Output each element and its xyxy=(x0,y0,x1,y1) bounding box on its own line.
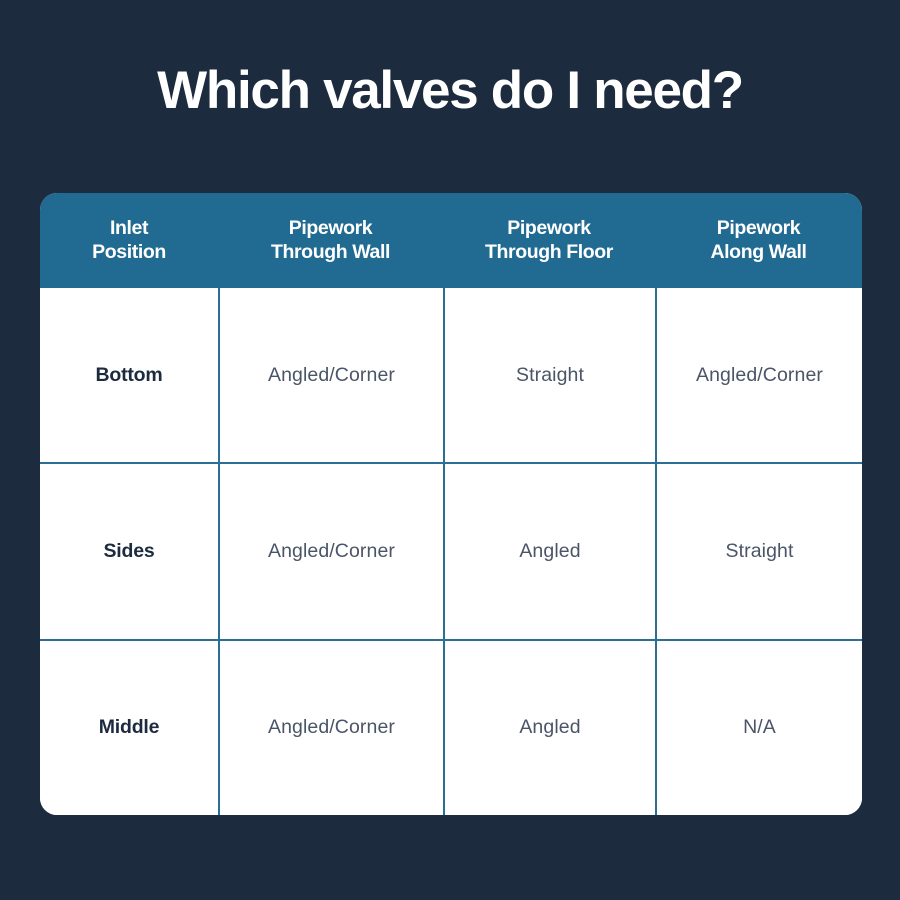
column-header-pipework-along-wall-line2: Along Wall xyxy=(710,241,806,263)
valves-table: Inlet Position Pipework Through Wall Pip… xyxy=(40,193,862,815)
table-row: Bottom Angled/Corner Straight Angled/Cor… xyxy=(40,288,862,462)
cell-sides-along-wall: Straight xyxy=(655,464,862,638)
column-header-inlet-position-line2: Position xyxy=(92,241,166,263)
table-header-row: Inlet Position Pipework Through Wall Pip… xyxy=(40,193,862,288)
column-header-pipework-through-floor-line1: Pipework xyxy=(507,217,591,239)
page-title: Which valves do I need? xyxy=(0,62,900,120)
cell-sides-through-wall: Angled/Corner xyxy=(218,464,443,638)
table-row: Sides Angled/Corner Angled Straight xyxy=(40,462,862,638)
column-header-inlet-position: Inlet Position xyxy=(40,193,218,288)
table-row: Middle Angled/Corner Angled N/A xyxy=(40,639,862,815)
column-header-pipework-along-wall-line1: Pipework xyxy=(717,217,801,239)
column-header-inlet-position-line1: Inlet xyxy=(110,217,148,239)
table-body: Bottom Angled/Corner Straight Angled/Cor… xyxy=(40,288,862,815)
row-label-sides: Sides xyxy=(40,464,218,638)
column-header-pipework-through-wall-line2: Through Wall xyxy=(271,241,390,263)
cell-bottom-through-wall: Angled/Corner xyxy=(218,288,443,462)
column-header-pipework-through-floor: Pipework Through Floor xyxy=(443,193,655,288)
column-header-pipework-along-wall: Pipework Along Wall xyxy=(655,193,862,288)
row-label-middle: Middle xyxy=(40,641,218,815)
infographic-page: Which valves do I need? Inlet Position P… xyxy=(0,0,900,900)
column-header-pipework-through-floor-line2: Through Floor xyxy=(485,241,613,263)
cell-middle-through-wall: Angled/Corner xyxy=(218,641,443,815)
cell-sides-through-floor: Angled xyxy=(443,464,655,638)
cell-middle-through-floor: Angled xyxy=(443,641,655,815)
cell-bottom-through-floor: Straight xyxy=(443,288,655,462)
row-label-bottom: Bottom xyxy=(40,288,218,462)
cell-middle-along-wall: N/A xyxy=(655,641,862,815)
column-header-pipework-through-wall-line1: Pipework xyxy=(289,217,373,239)
cell-bottom-along-wall: Angled/Corner xyxy=(655,288,862,462)
column-header-pipework-through-wall: Pipework Through Wall xyxy=(218,193,443,288)
